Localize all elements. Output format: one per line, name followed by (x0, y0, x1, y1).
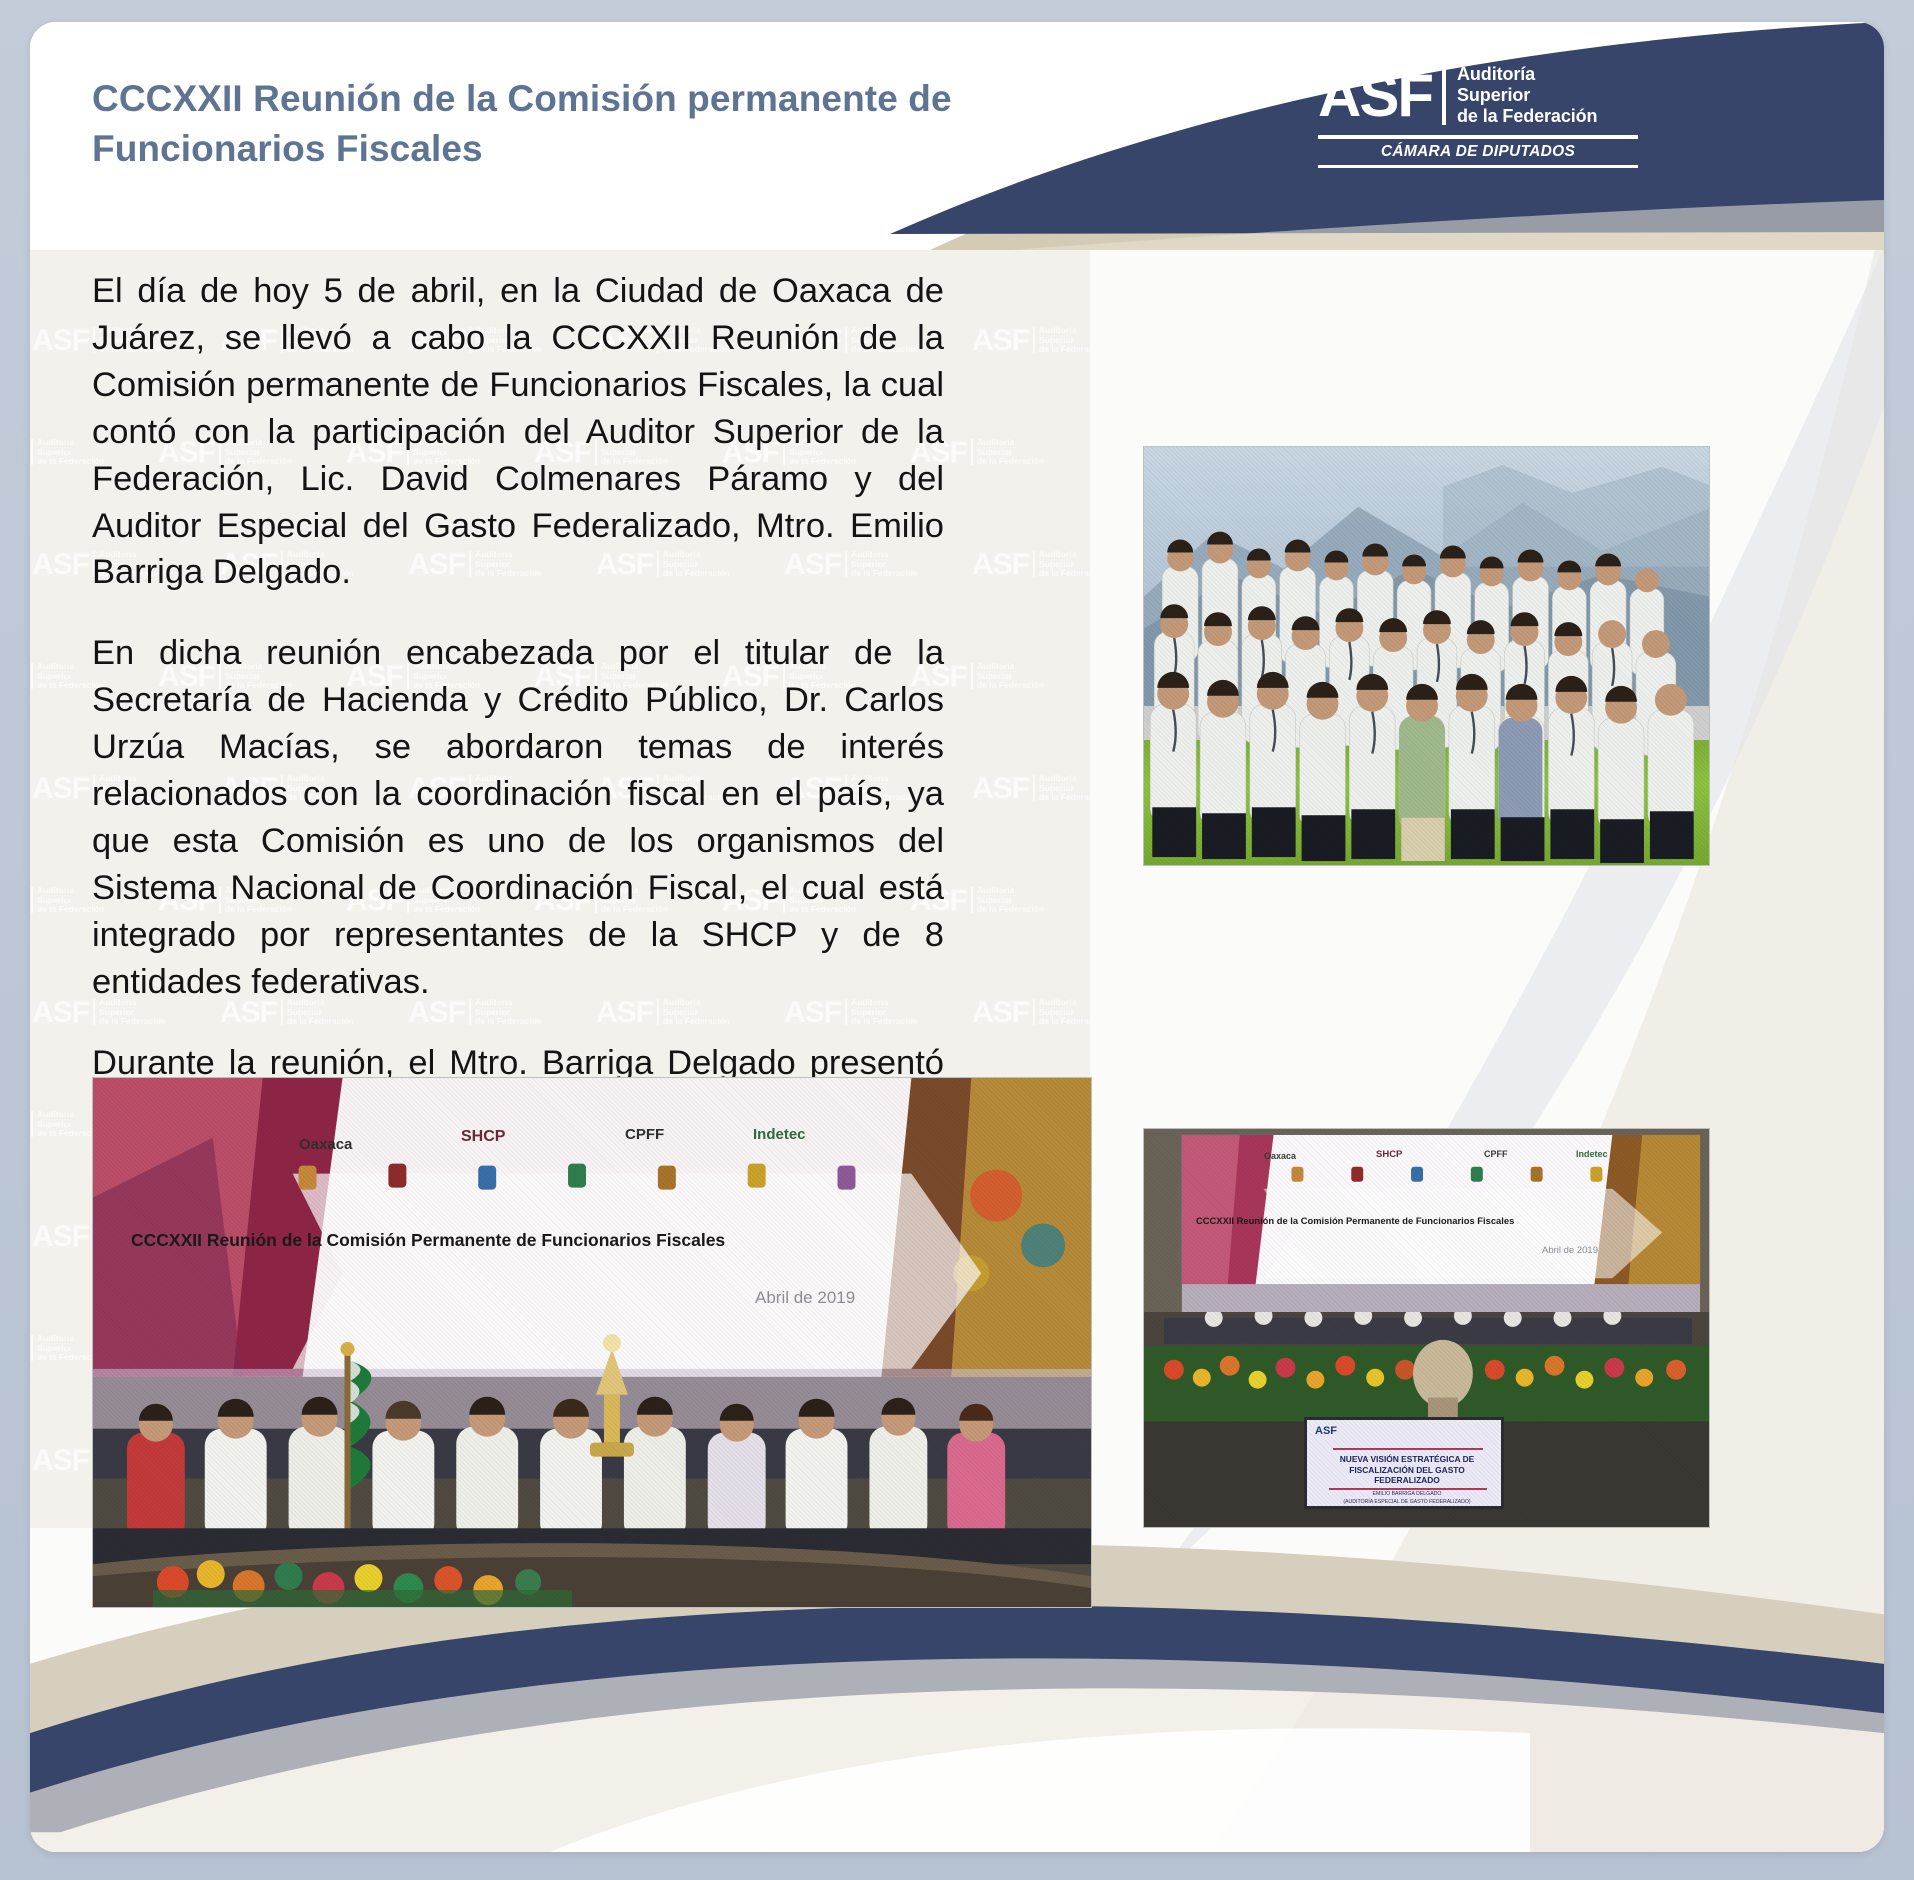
watermark-divider (971, 439, 973, 465)
watermark-subtext: AuditoríaSuperiorde la Federación (977, 438, 1044, 467)
watermark-divider (31, 663, 33, 689)
page-card: ASFAuditoríaSuperiorde la FederaciónASFA… (30, 22, 1884, 1852)
watermark-divider (971, 663, 973, 689)
paragraph-2: En dicha reunión encabezada por el titul… (92, 630, 944, 1005)
asf-logo-divider (1442, 67, 1446, 125)
watermark-subtext: AuditoríaSuperiorde la Federación (1039, 774, 1090, 803)
watermark-tile: ASFAuditoríaSuperiorde la Federación (972, 550, 1090, 579)
watermark-divider (1033, 551, 1035, 577)
asf-logo-row: ASF Auditoría Superior de la Federación (1318, 64, 1638, 128)
watermark-divider (31, 1335, 33, 1361)
page-frame: ASFAuditoríaSuperiorde la FederaciónASFA… (0, 0, 1914, 1880)
photo-plenary-right-scene: CCCXXII Reunión de la Comisión Permanent… (1144, 1129, 1709, 1527)
watermark-divider (1033, 775, 1035, 801)
watermark-divider (1033, 999, 1035, 1025)
photo-plenary-left: CCCXXII Reunión de la Comisión Permanent… (92, 1077, 1092, 1608)
photo-grain (93, 1078, 1091, 1607)
photo-plenary-right: CCCXXII Reunión de la Comisión Permanent… (1143, 1128, 1710, 1528)
watermark-tile: ASFAuditoríaSuperiorde la Federación (972, 774, 1090, 803)
watermark-subtext: AuditoríaSuperiorde la Federación (1039, 550, 1090, 579)
asf-rule-bottom (1318, 165, 1638, 168)
header: CCCXXII Reunión de la Comisión permanent… (30, 22, 1884, 250)
watermark-subtext: AuditoríaSuperiorde la Federación (1039, 326, 1090, 355)
asf-logo-subtext: Auditoría Superior de la Federación (1457, 64, 1597, 128)
watermark-subtext: AuditoríaSuperiorde la Federación (1039, 998, 1090, 1027)
paragraph-1: El día de hoy 5 de abril, en la Ciudad d… (92, 268, 944, 596)
asf-subtext-line3: de la Federación (1457, 106, 1597, 127)
watermark-asf: ASF (972, 999, 1029, 1026)
photo-group-scene (1144, 447, 1709, 865)
watermark-asf: ASF (972, 551, 1029, 578)
watermark-asf: ASF (32, 551, 89, 578)
asf-rule-top (1318, 135, 1638, 139)
photo-grain (1144, 447, 1709, 865)
asf-logo: ASF Auditoría Superior de la Federación … (1318, 64, 1638, 168)
watermark-divider (1033, 327, 1035, 353)
watermark-divider (31, 439, 33, 465)
asf-wordmark: ASF (1318, 68, 1432, 123)
photo-grain (1144, 1129, 1709, 1527)
watermark-divider (971, 887, 973, 913)
watermark-asf: ASF (32, 327, 89, 354)
photo-plenary-left-scene: CCCXXII Reunión de la Comisión Permanent… (93, 1078, 1091, 1607)
watermark-tile: ASFAuditoríaSuperiorde la Federación (972, 998, 1090, 1027)
page-title: CCCXXII Reunión de la Comisión permanent… (92, 74, 972, 173)
watermark-asf: ASF (972, 775, 1029, 802)
watermark-asf: ASF (972, 327, 1029, 354)
photo-group-outdoor (1143, 446, 1710, 866)
watermark-subtext: AuditoríaSuperiorde la Federación (977, 886, 1044, 915)
watermark-divider (31, 1111, 33, 1137)
watermark-tile: ASFAuditoríaSuperiorde la Federación (972, 326, 1090, 355)
watermark-asf: ASF (32, 1223, 89, 1250)
watermark-divider (31, 887, 33, 913)
watermark-subtext: AuditoríaSuperiorde la Federación (977, 662, 1044, 691)
asf-subtext-line2: Superior (1457, 85, 1597, 106)
body-area: ASFAuditoríaSuperiorde la FederaciónASFA… (30, 208, 1884, 1852)
watermark-asf: ASF (32, 775, 89, 802)
asf-camara-label: CÁMARA DE DIPUTADOS (1318, 143, 1638, 161)
watermark-asf: ASF (32, 1447, 89, 1474)
asf-subtext-line1: Auditoría (1457, 64, 1597, 85)
watermark-asf: ASF (32, 999, 89, 1026)
